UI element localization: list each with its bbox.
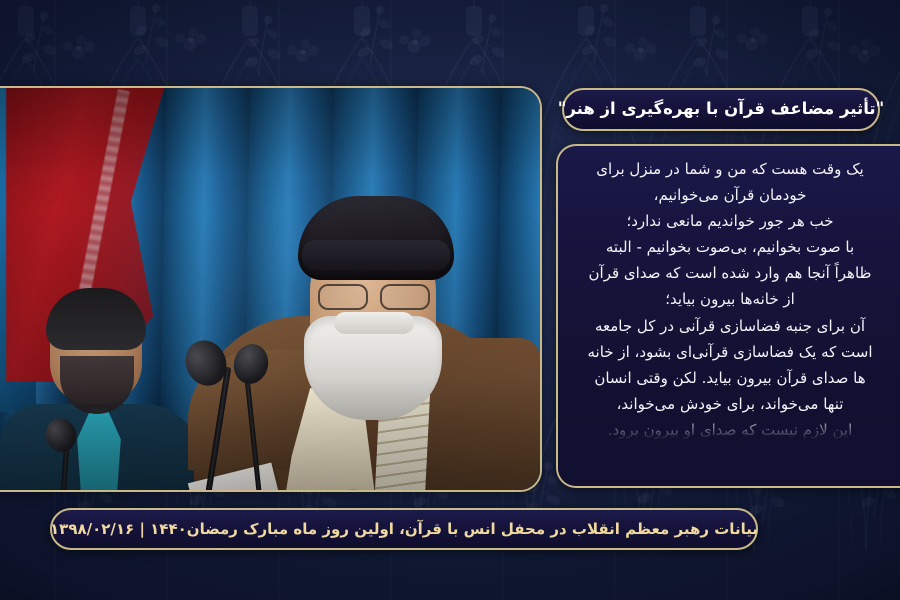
photo-speaker-mustache <box>334 312 414 334</box>
caption-bar: بیانات رهبر معظم انقلاب در محفل انس با ق… <box>50 508 758 550</box>
speaker-photo <box>0 88 540 490</box>
caption-text: بیانات رهبر معظم انقلاب در محفل انس با ق… <box>50 522 758 537</box>
photo-speaker-turban-wrap <box>302 240 450 270</box>
quote-bottom-mask <box>558 451 900 486</box>
card-title-pill: "تأثیر مضاعف قرآن با بهره‌گیری از هنر" <box>562 88 880 131</box>
quote-panel: یک وقت هست که من و شما در منزل برای خودم… <box>556 144 900 488</box>
card-title-text: "تأثیر مضاعف قرآن با بهره‌گیری از هنر" <box>558 101 884 118</box>
photo-speaker-glasses-icon <box>316 284 432 306</box>
quote-text: یک وقت هست که من و شما در منزل برای خودم… <box>568 156 892 443</box>
speaker-photo-panel <box>0 86 542 492</box>
quote-card: "تأثیر مضاعف قرآن با بهره‌گیری از هنر" ی… <box>0 0 900 600</box>
